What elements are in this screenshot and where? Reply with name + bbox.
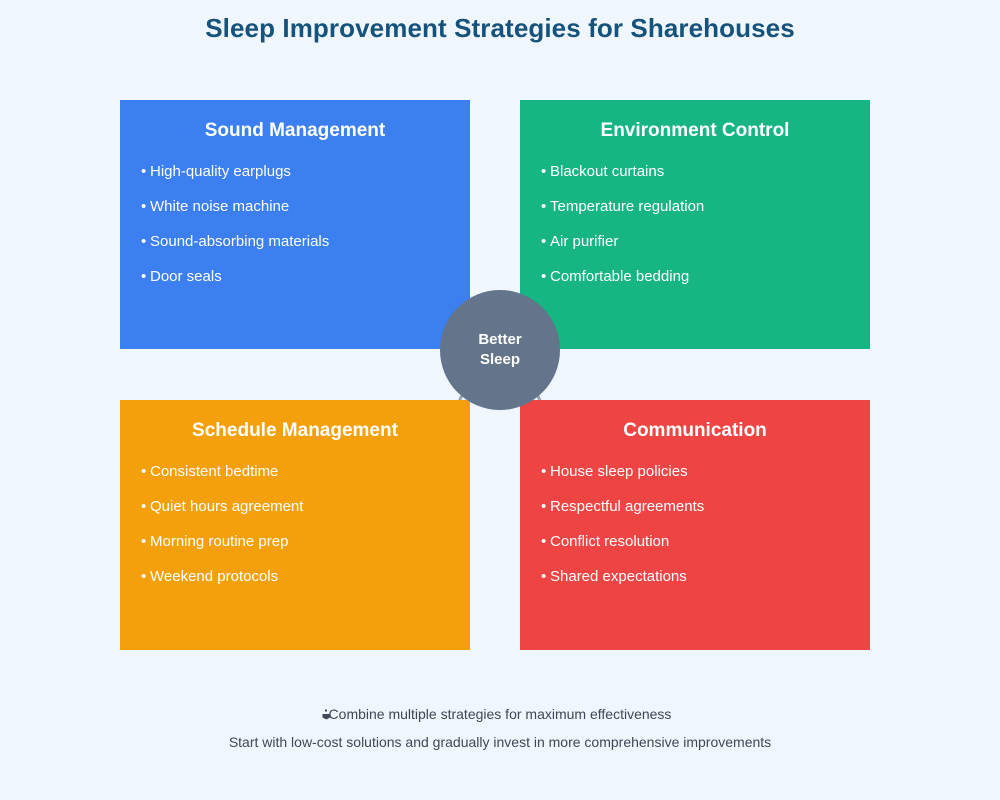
bullet-icon: • [141,569,150,584]
bullet-icon: • [541,569,550,584]
arrow-down-marker-icon [321,709,332,720]
quadrant-title-sound-management: Sound Management [120,120,470,142]
list-item: •Conflict resolution [541,534,860,549]
hub-label-line-2: Sleep [480,350,520,370]
bullet-icon: • [141,199,150,214]
quadrant-list-communication: •House sleep policies •Respectful agreem… [541,464,860,604]
bullet-icon: • [541,199,550,214]
list-item: •Sound-absorbing materials [141,234,460,249]
quadrant-list-sound-management: •High-quality earplugs •White noise mach… [141,164,460,304]
list-item: •Blackout curtains [541,164,860,179]
list-item: •High-quality earplugs [141,164,460,179]
quadrant-list-schedule-management: •Consistent bedtime •Quiet hours agreeme… [141,464,460,604]
list-item-label: Shared expectations [550,568,687,585]
bullet-icon: • [141,164,150,179]
hub-label-line-1: Better [478,330,521,350]
list-item: •Comfortable bedding [541,269,860,284]
quadrant-title-schedule-management: Schedule Management [120,420,470,442]
quadrant-panel-communication[interactable]: Communication •House sleep policies •Res… [520,400,870,650]
quadrant-panel-schedule-management[interactable]: Schedule Management •Consistent bedtime … [120,400,470,650]
footer: Combine multiple strategies for maximum … [0,700,1000,756]
infographic-canvas: Sleep Improvement Strategies for Shareho… [0,0,1000,800]
list-item: •Morning routine prep [141,534,460,549]
list-item: •Temperature regulation [541,199,860,214]
list-item-label: Quiet hours agreement [150,498,303,515]
list-item-label: Consistent bedtime [150,463,278,480]
list-item: •Shared expectations [541,569,860,584]
list-item-label: Air purifier [550,233,618,250]
list-item: •Quiet hours agreement [141,499,460,514]
bullet-icon: • [541,464,550,479]
bullet-icon: • [141,464,150,479]
list-item-label: Blackout curtains [550,163,664,180]
list-item-label: Temperature regulation [550,198,704,215]
list-item: •White noise machine [141,199,460,214]
list-item-label: Conflict resolution [550,533,669,550]
quadrant-panel-environment-control[interactable]: Environment Control •Blackout curtains •… [520,100,870,349]
list-item: •Weekend protocols [141,569,460,584]
quadrant-title-environment-control: Environment Control [520,120,870,142]
list-item-label: Weekend protocols [150,568,278,585]
list-item-label: Respectful agreements [550,498,704,515]
quadrant-title-communication: Communication [520,420,870,442]
footer-line-2: Start with low-cost solutions and gradua… [0,728,1000,756]
bullet-icon: • [141,534,150,549]
list-item: •Respectful agreements [541,499,860,514]
list-item: •Door seals [141,269,460,284]
bullet-icon: • [141,234,150,249]
list-item-label: Morning routine prep [150,533,288,550]
bullet-icon: • [141,269,150,284]
footer-line-1: Combine multiple strategies for maximum … [0,700,1000,728]
list-item-label: Sound-absorbing materials [150,233,329,250]
list-item-label: High-quality earplugs [150,163,291,180]
list-item-label: Comfortable bedding [550,268,689,285]
quadrant-list-environment-control: •Blackout curtains •Temperature regulati… [541,164,860,304]
list-item: •House sleep policies [541,464,860,479]
bullet-icon: • [541,534,550,549]
bullet-icon: • [541,499,550,514]
bullet-icon: • [541,234,550,249]
list-item-label: Door seals [150,268,222,285]
bullet-icon: • [541,269,550,284]
list-item-label: House sleep policies [550,463,688,480]
list-item: •Consistent bedtime [141,464,460,479]
list-item: •Air purifier [541,234,860,249]
page-title: Sleep Improvement Strategies for Shareho… [0,13,1000,44]
bullet-icon: • [141,499,150,514]
bullet-icon: • [541,164,550,179]
quadrant-panel-sound-management[interactable]: Sound Management •High-quality earplugs … [120,100,470,349]
center-hub-better-sleep[interactable]: Better Sleep [440,290,560,410]
list-item-label: White noise machine [150,198,289,215]
